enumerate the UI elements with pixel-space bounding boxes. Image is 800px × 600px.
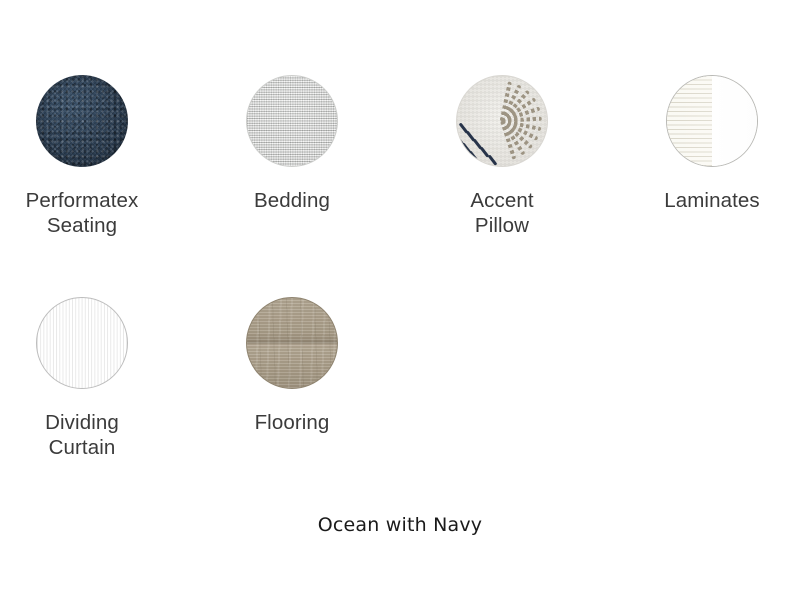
swatch-label-bedding: Bedding — [210, 188, 374, 213]
swatch-disc-flooring[interactable] — [246, 297, 338, 389]
swatch-item-bedding[interactable]: Bedding — [210, 75, 374, 213]
swatch-label-laminates: Laminates — [630, 188, 794, 213]
swatch-label-dividing-curtain: Dividing Curtain — [0, 410, 164, 460]
laminate-right-half — [712, 76, 757, 166]
swatch-disc-dividing-curtain[interactable] — [36, 297, 128, 389]
laminate-left-half — [667, 76, 712, 166]
palette-caption: Ocean with Navy — [0, 514, 800, 536]
swatch-label-flooring: Flooring — [210, 410, 374, 435]
navy-dash-icon — [488, 154, 498, 166]
swatch-disc-laminates[interactable] — [666, 75, 758, 167]
swatch-label-performatex-seating: Performatex Seating — [0, 188, 164, 238]
wood-grain-overlay — [247, 298, 337, 388]
material-palette-board: Performatex Seating Bedding — [0, 0, 800, 600]
swatch-item-flooring[interactable]: Flooring — [210, 297, 374, 435]
navy-dash-icon — [469, 150, 479, 162]
swatch-item-performatex-seating[interactable]: Performatex Seating — [0, 75, 164, 238]
swatch-item-dividing-curtain[interactable]: Dividing Curtain — [0, 297, 164, 460]
swatch-disc-bedding[interactable] — [246, 75, 338, 167]
swatch-item-accent-pillow[interactable]: Accent Pillow — [420, 75, 584, 238]
swatch-disc-accent-pillow[interactable] — [456, 75, 548, 167]
swatch-label-accent-pillow: Accent Pillow — [420, 188, 584, 238]
swatch-disc-performatex-seating[interactable] — [36, 75, 128, 167]
swatch-item-laminates[interactable]: Laminates — [630, 75, 794, 213]
